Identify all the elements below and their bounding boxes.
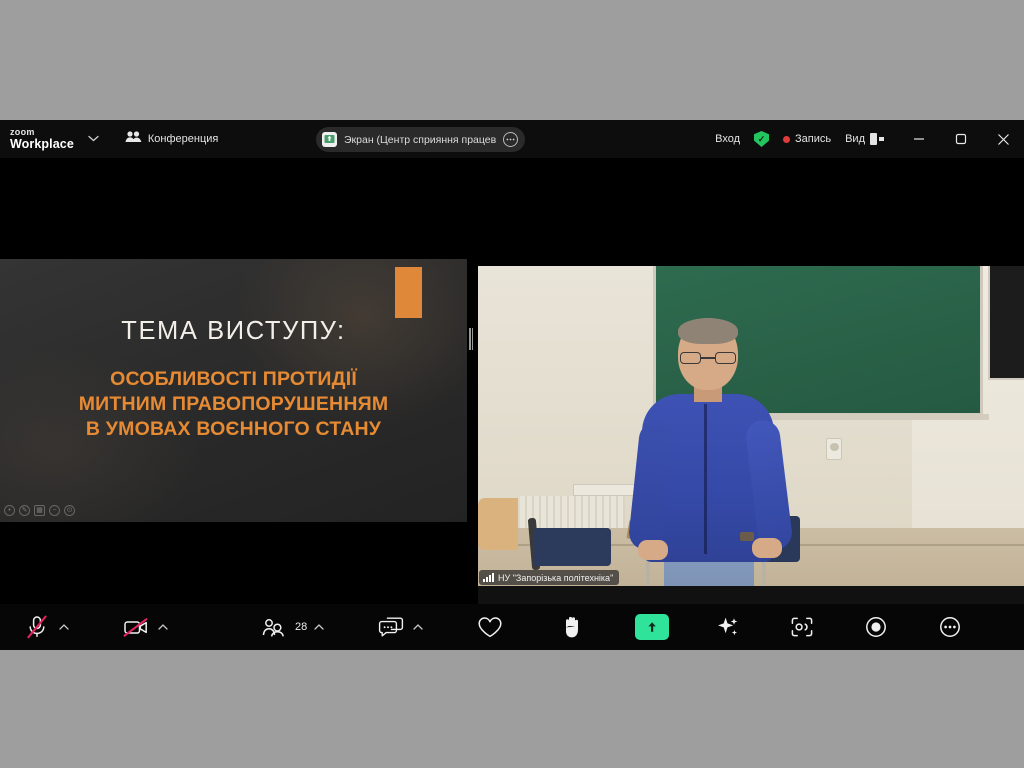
slide-subtitle-line-3: В УМОВАХ ВОЄННОГО СТАНУ (14, 417, 453, 442)
title-bar-right-controls: Вход Запись Вид (715, 120, 1024, 158)
presenter-hand-right (752, 538, 782, 558)
video-name-label: НУ "Запорізька політехніка" (479, 570, 619, 585)
record-icon (861, 614, 891, 640)
record-dot-icon (783, 136, 790, 143)
raise-hand-icon (557, 614, 587, 640)
shared-screen-panel[interactable]: ТЕМА ВИСТУПУ: ОСОБЛИВОСТІ ПРОТИДІЇ МИТНИ… (0, 237, 467, 542)
conference-label: Конференция (148, 133, 218, 145)
recording-indicator[interactable]: Запись (783, 133, 831, 145)
brand-workplace-text: Workplace (10, 138, 74, 151)
signal-bars-icon (483, 573, 494, 582)
record-button[interactable] (861, 604, 891, 650)
view-label: Вид (845, 133, 865, 145)
zoom-workplace-logo: zoom Workplace (10, 128, 74, 151)
screen-share-label: Экран (Центр сприяння працев (344, 134, 496, 146)
more-controls-button[interactable] (935, 604, 965, 650)
video-participant-tile[interactable]: НУ "Запорізька політехніка" (478, 266, 1024, 650)
mute-audio-button[interactable] (22, 604, 69, 650)
chat-icon (376, 614, 406, 640)
zoom-application-window: zoom Workplace Конференция (0, 120, 1024, 650)
video-options-chevron-icon[interactable] (158, 622, 168, 632)
stop-video-button[interactable] (121, 604, 168, 650)
share-screen-icon (635, 614, 669, 640)
more-options-icon[interactable]: ⊙ (64, 505, 75, 516)
slide-title: ТЕМА ВИСТУПУ: (0, 317, 467, 346)
screen-share-icon (322, 132, 337, 147)
chair-blue-left (533, 528, 611, 566)
panel-resize-handle[interactable] (469, 328, 473, 350)
layout-view-icon (870, 133, 884, 145)
recording-label: Запись (795, 133, 831, 145)
more-dots-icon (935, 614, 965, 640)
conference-tab[interactable]: Конференция (125, 130, 218, 148)
camera-muted-icon (121, 614, 151, 640)
powerpoint-presenter-toolbar[interactable]: • ✎ ▦ − ⊙ (4, 505, 75, 516)
presenter-wristwatch (740, 532, 754, 541)
screen-share-more-options-icon[interactable] (503, 132, 518, 147)
brand-chevron-down-icon[interactable] (88, 134, 99, 145)
participants-count: 28 (295, 621, 307, 633)
presentation-slide: ТЕМА ВИСТУПУ: ОСОБЛИВОСТІ ПРОТИДІЇ МИТНИ… (0, 259, 467, 522)
pen-pointer-icon[interactable]: • (4, 505, 15, 516)
heart-icon (475, 614, 505, 640)
chat-button[interactable] (376, 604, 423, 650)
sparkle-icon (713, 614, 743, 640)
presenter-person (628, 318, 788, 586)
encryption-shield-icon[interactable] (754, 131, 769, 147)
presenter-trousers (664, 558, 754, 586)
participants-group-icon (125, 130, 142, 148)
share-screen-button[interactable] (635, 604, 669, 650)
participants-button[interactable]: 28 (258, 604, 324, 650)
login-button[interactable]: Вход (715, 133, 740, 145)
slide-letterbox-bottom (0, 522, 467, 542)
slide-subtitle: ОСОБЛИВОСТІ ПРОТИДІЇ МИТНИМ ПРАВОПОРУШЕН… (14, 367, 453, 442)
chair-wooden (478, 498, 518, 550)
presenter-shirt-placket (704, 404, 707, 554)
ai-companion-button[interactable] (713, 604, 743, 650)
maximize-button[interactable] (940, 120, 982, 158)
minimize-button[interactable] (898, 120, 940, 158)
participant-name: НУ "Запорізька політехніка" (498, 573, 613, 583)
presenter-hand-left (638, 540, 668, 560)
slide-accent-block (395, 267, 422, 318)
pen-icon[interactable]: ✎ (19, 505, 30, 516)
participants-options-chevron-icon[interactable] (314, 622, 324, 632)
view-button[interactable]: Вид (845, 133, 884, 145)
raise-hand-button[interactable] (557, 604, 587, 650)
chat-options-chevron-icon[interactable] (413, 622, 423, 632)
meeting-stage: ТЕМА ВИСТУПУ: ОСОБЛИВОСТІ ПРОТИДІЇ МИТНИ… (0, 158, 1024, 650)
screen-root: zoom Workplace Конференция (0, 0, 1024, 768)
slide-grid-icon[interactable]: ▦ (34, 505, 45, 516)
screen-share-status-pill[interactable]: Экран (Центр сприяння працев (316, 127, 525, 152)
title-bar: zoom Workplace Конференция (0, 120, 1024, 158)
presenter-glasses (680, 352, 736, 364)
participants-icon (258, 614, 288, 640)
zoom-out-icon[interactable]: − (49, 505, 60, 516)
meeting-control-bar: 28 (0, 604, 1024, 650)
reactions-button[interactable] (475, 604, 505, 650)
close-button[interactable] (982, 120, 1024, 158)
wall-socket (826, 438, 842, 460)
video-feed: НУ "Запорізька політехніка" (478, 266, 1024, 586)
presenter-hair (678, 318, 738, 344)
wall-screen-device (988, 266, 1024, 380)
microphone-muted-icon (22, 614, 52, 640)
slide-subtitle-line-1: ОСОБЛИВОСТІ ПРОТИДІЇ (14, 367, 453, 392)
breakout-rooms-icon (787, 614, 817, 640)
brand-zoom-text: zoom (10, 128, 74, 137)
audio-options-chevron-icon[interactable] (59, 622, 69, 632)
slide-letterbox-top (0, 237, 467, 259)
slide-subtitle-line-2: МИТНИМ ПРАВОПОРУШЕННЯМ (14, 392, 453, 417)
breakout-rooms-button[interactable] (787, 604, 817, 650)
